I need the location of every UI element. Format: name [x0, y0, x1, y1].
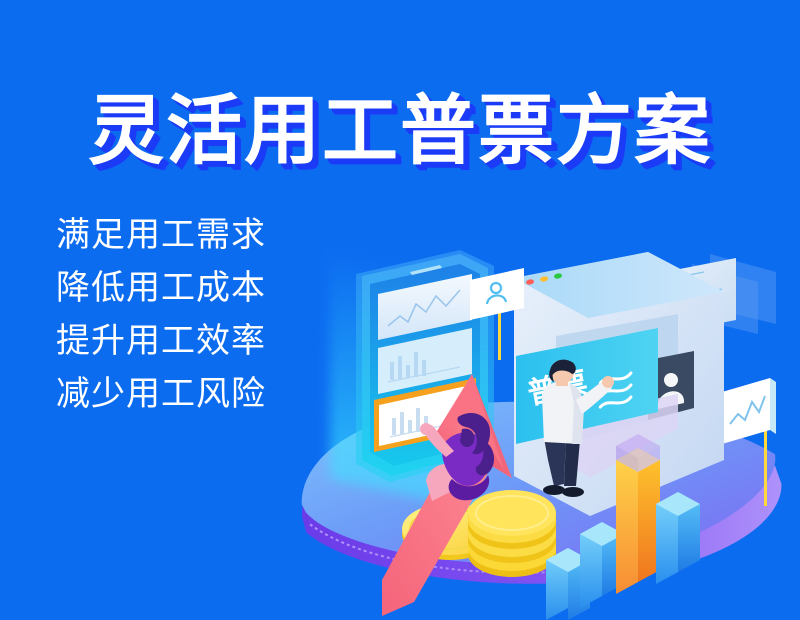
- feature-item-1: 满足用工需求: [56, 218, 266, 252]
- title-block: 灵活用工普票方案: [0, 92, 800, 170]
- page-title: 灵活用工普票方案: [88, 92, 712, 170]
- feature-item-3: 提升用工效率: [56, 324, 266, 358]
- person-woman-sitting: [418, 405, 528, 525]
- floating-user-badge: [462, 262, 542, 352]
- poster-canvas: 普票: [0, 0, 800, 620]
- feature-list: 满足用工需求 降低用工成本 提升用工效率 减少用工风险: [56, 218, 266, 430]
- bar-3-highlight: [616, 434, 660, 594]
- feature-item-2: 降低用工成本: [56, 271, 266, 305]
- feature-item-4: 减少用工风险: [56, 377, 266, 411]
- bar-4: [656, 492, 700, 584]
